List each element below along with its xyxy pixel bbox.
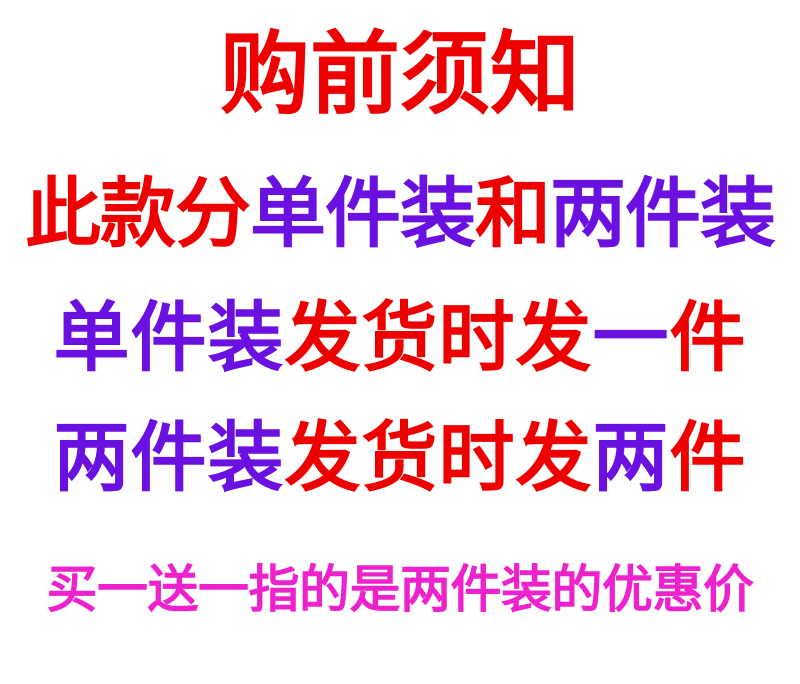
notice-footer-text: 买一送一指的是两件装的优惠价 (46, 561, 753, 620)
notice-line-2-segment-2: 发货时发 (285, 293, 593, 382)
notice-line-1-segment-3: 和 (475, 169, 550, 258)
notice-line-2-segment-4: 件 (670, 293, 747, 382)
notice-line-2-segment-1: 单件装 (54, 293, 285, 382)
notice-line-promo-clarification: 买一送一指的是两件装的优惠价 (0, 565, 800, 616)
purchase-notice-poster: 购前须知 此款分单件装和两件装 单件装发货时发一件 两件装发货时发两件 买一送一… (0, 0, 800, 684)
notice-line-product-variants: 此款分单件装和两件装 (0, 176, 800, 252)
poster-title-text: 购前须知 (220, 22, 580, 127)
notice-line-1-segment-1: 此款分 (25, 169, 250, 258)
notice-line-3-segment-1: 两件装 (54, 413, 285, 502)
notice-line-1-segment-2: 单件装 (250, 169, 475, 258)
notice-line-3-segment-2: 发货时发 (285, 413, 593, 502)
notice-line-1-segment-4: 两件装 (550, 169, 775, 258)
notice-line-double-pack-shipping: 两件装发货时发两件 (0, 420, 800, 496)
notice-line-3-segment-3: 两 (593, 413, 670, 502)
poster-title: 购前须知 (0, 30, 800, 120)
notice-line-2-segment-3: 一 (593, 293, 670, 382)
notice-line-single-pack-shipping: 单件装发货时发一件 (0, 300, 800, 376)
notice-line-3-segment-4: 件 (670, 413, 747, 502)
